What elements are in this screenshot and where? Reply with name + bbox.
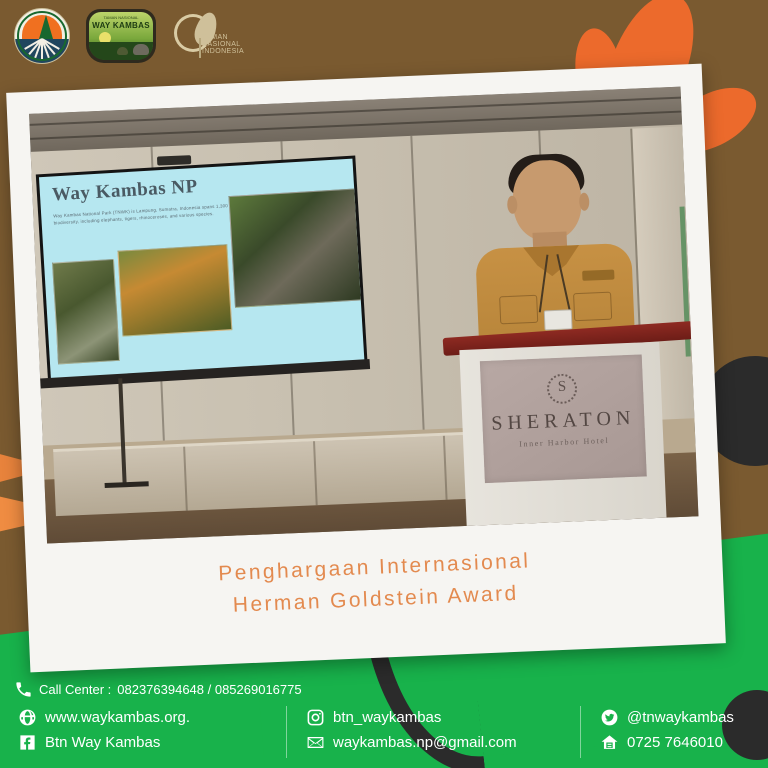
fax-row[interactable]: 0725 7646010 — [600, 733, 734, 752]
presentation-slide: Way Kambas NP Way Kambas National Park (… — [39, 159, 365, 383]
website-row[interactable]: www.waykambas.org. — [18, 708, 190, 727]
sheraton-sub-text: Inner Harbor Hotel — [483, 434, 645, 450]
way-kambas-logo-text: WAY KAMBAS — [89, 21, 153, 30]
twitter-row[interactable]: @tnwaykambas — [600, 708, 734, 727]
way-kambas-logo-subtext: TAMAN NASIONAL — [89, 15, 153, 20]
fax-text: 0725 7646010 — [627, 734, 723, 751]
email-row[interactable]: waykambas.np@gmail.com — [306, 733, 517, 752]
globe-icon — [18, 708, 37, 727]
sheraton-sign: S SHERATON Inner Harbor Hotel — [480, 354, 647, 483]
elephant-photo — [52, 259, 120, 364]
sheraton-monogram-letter: S — [549, 378, 576, 396]
elephant-icon — [133, 44, 149, 55]
head — [511, 159, 582, 242]
shirt-pocket — [499, 295, 538, 325]
call-center-label: Call Center : — [39, 682, 111, 697]
logo-ring — [17, 11, 67, 61]
elephant-icon — [117, 47, 128, 55]
fax-home-icon — [600, 733, 619, 752]
slide-title: Way Kambas NP — [51, 176, 198, 207]
facebook-icon — [18, 733, 37, 752]
way-kambas-logo: TAMAN NASIONAL WAY KAMBAS — [86, 9, 156, 63]
projection-screen: Way Kambas NP Way Kambas National Park (… — [36, 155, 368, 386]
footer-column-left: www.waykambas.org. Btn Way Kambas — [18, 702, 190, 752]
call-center-row: Call Center : 082376394648 / 08526901677… — [14, 680, 302, 699]
polaroid-frame: Way Kambas NP Way Kambas National Park (… — [6, 64, 726, 673]
instagram-text: btn_waykambas — [333, 709, 441, 726]
shirt-pocket — [573, 292, 612, 322]
tiger-photo — [117, 244, 232, 336]
footer-column-middle: btn_waykambas waykambas.np@gmail.com — [306, 702, 517, 752]
projector-icon — [157, 155, 191, 165]
divider — [286, 706, 287, 758]
id-badge — [544, 309, 573, 330]
klhk-logo — [14, 8, 70, 64]
sheraton-monogram: S — [480, 370, 643, 412]
poster-canvas: TAMAN NASIONAL WAY KAMBAS TAMAN NASIONAL… — [0, 0, 768, 768]
rhino-photo — [228, 189, 361, 308]
uniform-emblem — [582, 270, 614, 281]
taman-nasional-logo: TAMAN NASIONAL INDONESIA — [172, 12, 246, 60]
website-text: www.waykambas.org. — [45, 709, 190, 726]
phone-icon — [14, 680, 33, 699]
twitter-text: @tnwaykambas — [627, 709, 734, 726]
facebook-text: Btn Way Kambas — [45, 734, 160, 751]
call-center-value: 082376394648 / 085269016775 — [117, 682, 301, 697]
footer-column-right: @tnwaykambas 0725 7646010 — [600, 702, 734, 752]
footer-contact-bar: Call Center : 082376394648 / 08526901677… — [0, 672, 768, 768]
taman-nasional-line2: NASIONAL — [202, 41, 244, 48]
caption-block: Penghargaan Internasional Herman Goldste… — [47, 516, 704, 685]
divider — [580, 706, 581, 758]
email-text: waykambas.np@gmail.com — [333, 734, 517, 751]
instagram-icon — [306, 708, 325, 727]
logo-row: TAMAN NASIONAL WAY KAMBAS TAMAN NASIONAL… — [14, 8, 246, 64]
facebook-row[interactable]: Btn Way Kambas — [18, 733, 190, 752]
ear — [579, 193, 590, 211]
envelope-icon — [306, 733, 325, 752]
taman-nasional-line3: INDONESIA — [202, 48, 244, 55]
taman-nasional-line1: TAMAN — [202, 34, 244, 41]
event-photo: Way Kambas NP Way Kambas National Park (… — [29, 87, 698, 544]
leaf-stem-icon — [199, 38, 201, 58]
instagram-row[interactable]: btn_waykambas — [306, 708, 517, 727]
twitter-icon — [600, 708, 619, 727]
